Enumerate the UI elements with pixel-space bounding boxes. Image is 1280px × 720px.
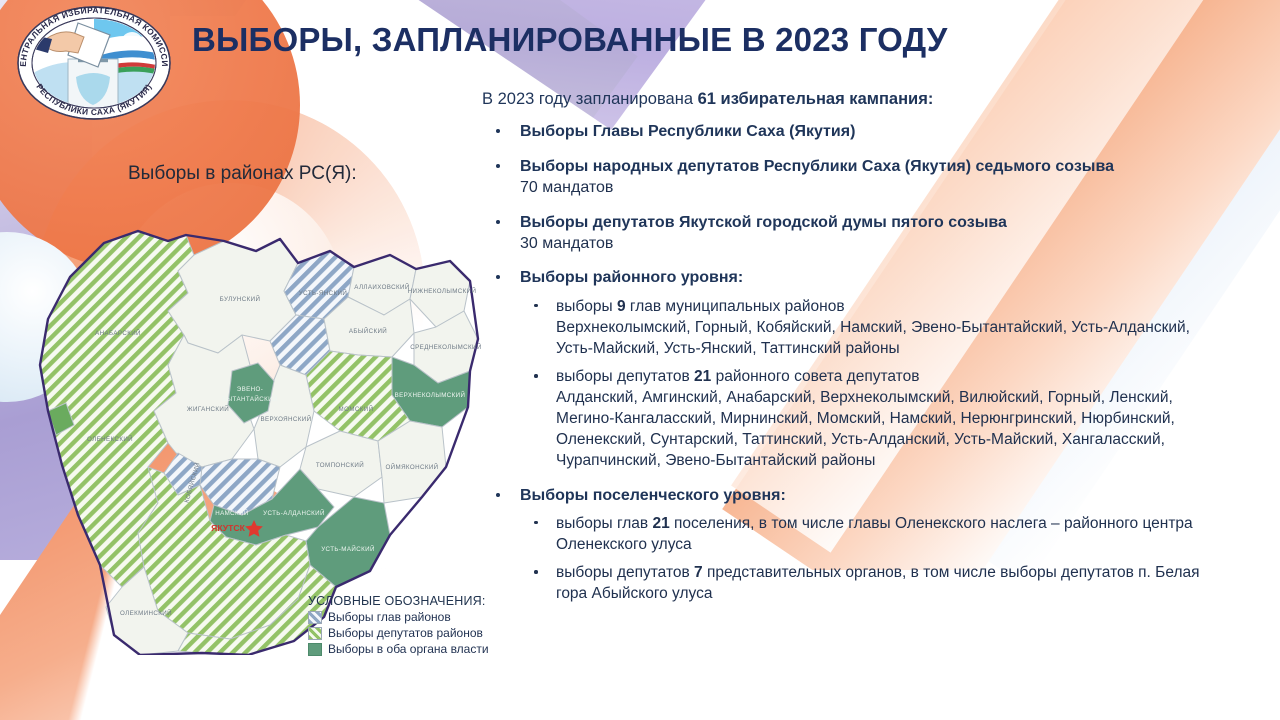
map-label-abyysky: АБЫЙСКИЙ: [349, 327, 387, 335]
map-label-ust-maysky: УСТЬ-МАЙСКИЙ: [321, 545, 375, 553]
sub-item-district-heads: выборы 9 глав муниципальных районов Верх…: [520, 296, 1222, 359]
map-label-anabarsky: АНАБАРСКИЙ: [95, 329, 141, 337]
item-heading: Выборы депутатов Якутской городской думы…: [520, 214, 1007, 231]
content-column: В 2023 году запланирована 61 избирательн…: [482, 88, 1222, 617]
map-label-momsky: МОМСКИЙ: [339, 405, 374, 413]
district-sublist: выборы 9 глав муниципальных районов Верх…: [520, 296, 1222, 472]
legend-swatch-green-hatch-icon: [308, 627, 322, 640]
legend-label-both: Выборы в оба органа власти: [328, 642, 489, 658]
cik-emblem-logo: ЦЕНТРАЛЬНАЯ ИЗБИРАТЕЛЬНАЯ КОМИССИЯ РЕСПУ…: [6, 3, 182, 121]
map-label-verkhoyansky: ВЕРХОЯНСКИЙ: [260, 415, 311, 423]
list-item-city-duma: Выборы депутатов Якутской городской думы…: [482, 212, 1222, 255]
list-item-deputies-republic: Выборы народных депутатов Республики Сах…: [482, 156, 1222, 199]
map-label-srednekolymsky: СРЕДНЕКОЛЫМСКИЙ: [410, 343, 481, 351]
sub-count: 9: [617, 298, 626, 315]
map-caption: Выборы в районах РС(Я):: [128, 163, 357, 185]
legend-swatch-blue-hatch-icon: [308, 611, 322, 624]
sub-suffix: глав муниципальных районов: [626, 298, 845, 315]
svg-text:БЫТАНТАЙСКИЙ: БЫТАНТАЙСКИЙ: [222, 395, 278, 403]
lead-count: 61 избирательная кампания:: [698, 90, 934, 108]
map-label-tomponsky: ТОМПОНСКИЙ: [316, 461, 364, 469]
legend-label-deputies: Выборы депутатов районов: [328, 626, 483, 642]
map-label-olyokminsky: ОЛЕКМИНСКИЙ: [120, 609, 172, 617]
map-label-zhigansky: ЖИГАНСКИЙ: [187, 405, 229, 413]
item-heading: Выборы поселенческого уровня:: [520, 487, 786, 504]
sub-item-settlement-deputies: выборы депутатов 7 представительных орга…: [520, 562, 1222, 604]
slide-title: ВЫБОРЫ, ЗАПЛАНИРОВАННЫЕ В 2023 ГОДУ: [192, 22, 1052, 58]
legend-swatch-solid-green-icon: [308, 643, 322, 656]
sub-item-settlement-heads: выборы глав 21 поселения, в том числе гл…: [520, 513, 1222, 555]
sub-prefix: выборы: [556, 298, 617, 315]
slide-root: ЦЕНТРАЛЬНАЯ ИЗБИРАТЕЛЬНАЯ КОМИССИЯ РЕСПУ…: [0, 0, 1280, 720]
map-label-ust-aldansky: УСТЬ-АЛДАНСКИЙ: [263, 509, 325, 517]
legend-label-heads: Выборы глав районов: [328, 610, 451, 626]
campaign-list: Выборы Главы Республики Саха (Якутия) Вы…: [482, 121, 1222, 604]
list-item-settlement-level: Выборы поселенческого уровня: выборы гла…: [482, 485, 1222, 605]
sub-count: 7: [694, 564, 703, 581]
sub-suffix: районного совета депутатов: [711, 368, 919, 385]
sub-names: Верхнеколымский, Горный, Кобяйский, Намс…: [556, 317, 1222, 359]
item-heading: Выборы Главы Республики Саха (Якутия): [520, 123, 855, 140]
sub-prefix: выборы депутатов: [556, 368, 694, 385]
map-label-oymyakonsky: ОЙМЯКОНСКИЙ: [385, 463, 438, 471]
map-label-namsky: НАМСКИЙ: [215, 509, 249, 517]
legend-item-deputies: Выборы депутатов районов: [308, 626, 518, 642]
map-label-verkhnekolymsky: ВЕРХНЕКОЛЫМСКИЙ: [395, 391, 466, 399]
map-label-eveno-bytantaysky: ЭВЕНО-: [237, 386, 263, 393]
legend-item-both: Выборы в оба органа власти: [308, 642, 518, 658]
map-capital-label: ЯКУТСК: [211, 523, 245, 533]
map-label-allaikhovsky: АЛЛАИХОВСКИЙ: [354, 283, 409, 291]
item-note: 30 мандатов: [520, 233, 1222, 254]
item-note: 70 мандатов: [520, 177, 1222, 198]
item-heading: Выборы народных депутатов Республики Сах…: [520, 158, 1114, 175]
list-item-head-election: Выборы Главы Республики Саха (Якутия): [482, 121, 1222, 142]
map-label-olenyoksky: ОЛЕНЕКСКИЙ: [87, 435, 133, 443]
bg-top-strip: [170, 0, 400, 16]
sub-prefix: выборы депутатов: [556, 564, 694, 581]
list-item-district-level: Выборы районного уровня: выборы 9 глав м…: [482, 267, 1222, 471]
settlement-sublist: выборы глав 21 поселения, в том числе гл…: [520, 513, 1222, 604]
sub-count: 21: [652, 515, 669, 532]
sub-names: Алданский, Амгинский, Анабарский, Верхне…: [556, 387, 1222, 471]
map-label-ust-yansky: УСТЬ-ЯНСКИЙ: [299, 289, 347, 297]
lead-prefix: В 2023 году запланирована: [482, 90, 698, 108]
yakutia-district-map: АНАБАРСКИЙ ОЛЕНЕКСКИЙ БУЛУНСКИЙ ЖИГАНСКИ…: [18, 215, 488, 655]
sub-prefix: выборы глав: [556, 515, 652, 532]
sub-count: 21: [694, 368, 711, 385]
map-label-nizhnekolymsky: НИЖНЕКОЛЫМСКИЙ: [408, 287, 477, 295]
map-label-bulunsky: БУЛУНСКИЙ: [220, 295, 261, 303]
lead-sentence: В 2023 году запланирована 61 избирательн…: [482, 88, 1222, 110]
item-heading: Выборы районного уровня:: [520, 269, 743, 286]
sub-item-district-deputies: выборы депутатов 21 районного совета деп…: [520, 366, 1222, 471]
